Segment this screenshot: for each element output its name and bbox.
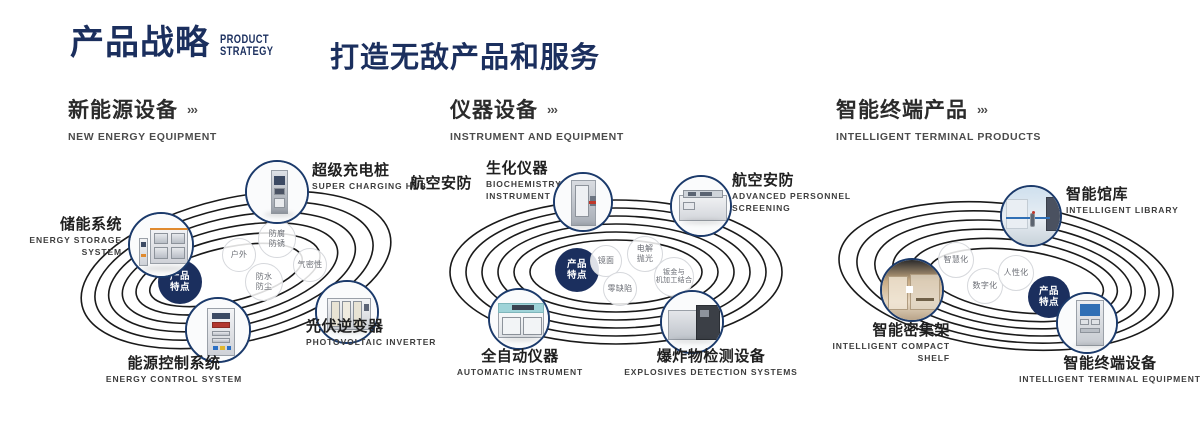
label-energy-control-system: 能源控制系统 ENERGY CONTROL SYSTEM [84,355,264,386]
page-title-en-line1: PRODUCT [220,33,273,46]
section-title-cn: 新能源设备 [68,94,178,124]
compact-shelf-photo [882,260,942,320]
section-title-cn: 智能终端产品 [836,94,968,124]
label-intelligent-terminal-equipment: 智能终端设备 INTELLIGENT TERMINAL EQUIPMENT [1015,355,1200,386]
trait-bubble-anticorrosion: 防腐 防锈 [258,220,296,258]
personnel-screening-photo [672,177,730,235]
charging-pile-photo [247,162,307,222]
chevron-right-icon: ››› [187,102,197,117]
node-explosives-detection[interactable] [660,290,724,354]
label-energy-storage-system: 储能系统 ENERGY STORAGE SYSTEM [6,216,122,258]
cluster-intelligent-terminal: 智慧化 数字化 人性化 产品 特点 智能馆库 INTELLIGENT LIBRA… [810,150,1200,400]
section-title-cn: 仪器设备 [450,94,538,124]
product-strategy-infographic: 产品战略 PRODUCT STRATEGY 打造无敌产品和服务 新能源设备 ››… [0,0,1200,422]
page-title-cn: 产品战略 [70,26,210,60]
trait-bubble-zero-defect: 零缺陷 [603,272,637,306]
label-intelligent-compact-shelf: 智能密集架 INTELLIGENT COMPACT SHELF [800,322,950,364]
label-explosives-detection: 爆炸物检测设备 EXPLOSIVES DETECTION SYSTEMS [615,348,807,379]
node-intelligent-compact-shelf[interactable] [880,258,944,322]
label-intelligent-library: 智能馆库 INTELLIGENT LIBRARY [1066,186,1200,217]
section-header-new-energy: 新能源设备 ››› NEW ENERGY EQUIPMENT [68,94,217,143]
terminal-kiosk-photo [1058,294,1116,352]
section-header-intelligent-terminal: 智能终端产品 ››› INTELLIGENT TERMINAL PRODUCTS [836,94,1041,143]
trait-bubble-smart: 智慧化 [938,242,974,278]
chevron-right-icon: ››› [977,102,987,117]
explosives-detection-photo [662,292,722,352]
trait-bubble-waterproof: 防水 防尘 [245,263,283,301]
section-header-instrument: 仪器设备 ››› INSTRUMENT AND EQUIPMENT [450,94,624,143]
section-title-en: INSTRUMENT AND EQUIPMENT [450,131,624,143]
trait-bubble-humanized: 人性化 [998,255,1034,291]
intelligent-library-photo [1002,187,1060,245]
node-intelligent-library[interactable] [1000,185,1062,247]
label-biochemistry-instrument: 生化仪器 BIOCHEMISTRY INSTRUMENT [458,160,588,202]
page-title-en-line2: STRATEGY [220,45,273,58]
node-energy-storage-system[interactable] [128,212,194,278]
control-cabinet-photo [187,299,249,361]
node-super-charging-hub[interactable] [245,160,309,224]
page-headline: 打造无敌产品和服务 [330,34,600,76]
label-automatic-instrument: 全自动仪器 AUTOMATIC INSTRUMENT [440,348,600,379]
chevron-right-icon: ››› [547,102,557,117]
section-title-en: INTELLIGENT TERMINAL PRODUCTS [836,131,1041,143]
node-energy-control-system[interactable] [185,297,251,363]
cluster-new-energy: 产品 特点 户外 防腐 防锈 防水 防尘 气密性 [40,150,420,400]
node-automatic-instrument[interactable] [488,288,550,350]
automatic-instrument-photo [490,290,548,348]
node-advanced-personnel-screening[interactable] [670,175,732,237]
energy-storage-cabinet-photo [130,214,192,276]
page-header: 产品战略 PRODUCT STRATEGY [70,26,288,60]
page-title-en: PRODUCT STRATEGY [220,33,273,58]
node-intelligent-terminal-equipment[interactable] [1056,292,1118,354]
cluster-instrument: 产品 特点 镜面 电解 抛光 零缺陷 钣金与 机加工结合 航空安防 [420,150,810,400]
section-title-en: NEW ENERGY EQUIPMENT [68,131,217,143]
trait-bubble-airtight: 气密性 [293,248,327,282]
